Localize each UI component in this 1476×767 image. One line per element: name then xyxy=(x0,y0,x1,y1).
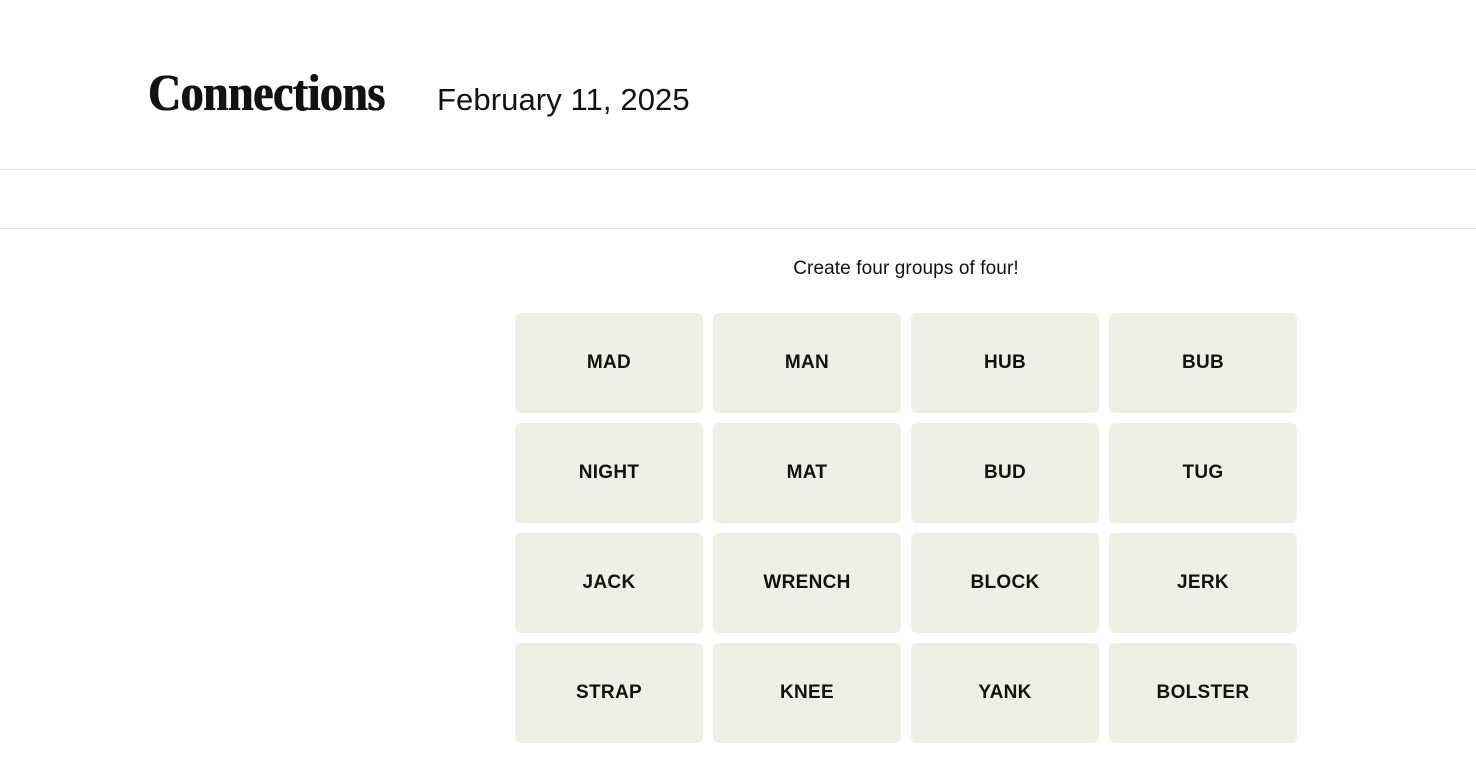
word-tile[interactable]: KNEE xyxy=(713,643,901,743)
word-tile[interactable]: MAD xyxy=(515,313,703,413)
word-tile[interactable]: HUB xyxy=(911,313,1099,413)
word-tile[interactable]: MAN xyxy=(713,313,901,413)
word-tile[interactable]: BUD xyxy=(911,423,1099,523)
word-tile[interactable]: YANK xyxy=(911,643,1099,743)
game-board: Create four groups of four! MAD MAN HUB … xyxy=(0,230,1476,767)
word-tile[interactable]: JERK xyxy=(1109,533,1297,633)
page-header: Connections February 11, 2025 xyxy=(0,0,1476,169)
instructions-text: Create four groups of four! xyxy=(515,258,1297,280)
word-tile[interactable]: MAT xyxy=(713,423,901,523)
puzzle-date: February 11, 2025 xyxy=(437,84,690,115)
word-tile[interactable]: BUB xyxy=(1109,313,1297,413)
page-title: Connections xyxy=(148,68,385,120)
word-tile[interactable]: TUG xyxy=(1109,423,1297,523)
word-tile[interactable]: BLOCK xyxy=(911,533,1099,633)
word-tile[interactable]: STRAP xyxy=(515,643,703,743)
word-tile[interactable]: BOLSTER xyxy=(1109,643,1297,743)
header-title-group: Connections February 11, 2025 xyxy=(148,68,690,120)
tile-grid: MAD MAN HUB BUB NIGHT MAT BUD TUG JACK W… xyxy=(515,313,1297,743)
toolbar-band xyxy=(0,169,1476,229)
word-tile[interactable]: WRENCH xyxy=(713,533,901,633)
word-tile[interactable]: NIGHT xyxy=(515,423,703,523)
word-tile[interactable]: JACK xyxy=(515,533,703,633)
